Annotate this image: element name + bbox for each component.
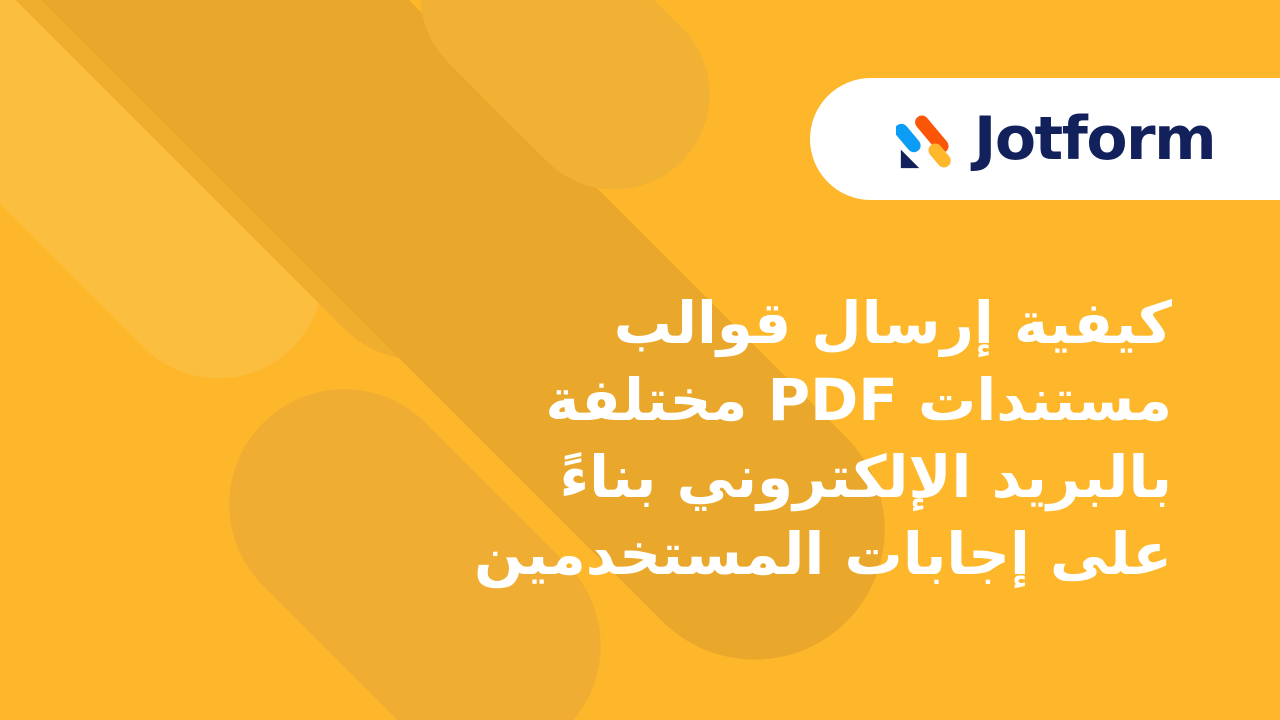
diagonal-bar-1 xyxy=(0,0,367,422)
diagonal-bar-5 xyxy=(381,0,749,229)
jotform-logo-icon xyxy=(896,108,958,170)
page-title: كيفية إرسال قوالب مستندات PDF مختلفة بال… xyxy=(472,285,1172,594)
cover-canvas: Jotform كيفية إرسال قوالب مستندات PDF مخ… xyxy=(0,0,1280,720)
jotform-wordmark: Jotform xyxy=(974,109,1215,169)
brand-logo-pill: Jotform xyxy=(810,78,1280,200)
brand-logo[interactable]: Jotform xyxy=(896,108,1215,170)
